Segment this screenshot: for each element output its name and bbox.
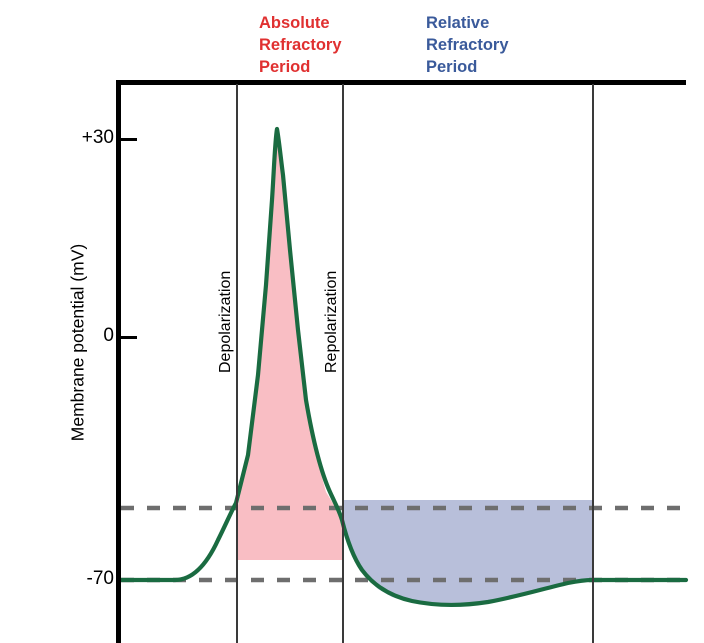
- y-tick-label-30: +30: [54, 127, 114, 149]
- repolarization-label: Repolarization: [323, 271, 341, 373]
- divider-line-repolarization-end: [342, 84, 344, 643]
- y-tick-mark-30: [121, 138, 137, 141]
- plot-canvas: [0, 0, 704, 643]
- divider-line-depolarization-onset: [236, 84, 238, 643]
- depolarization-label: Depolarization: [217, 271, 235, 373]
- y-tick-label-70: -70: [54, 568, 114, 590]
- divider-line-relative-period-end: [592, 84, 594, 643]
- y-axis-title: Membrane potential (mV): [68, 203, 89, 483]
- axis-left-border: [116, 80, 121, 643]
- axis-top-border: [116, 80, 686, 85]
- action-potential-figure: Absolute Refractory Period Relative Refr…: [0, 0, 704, 643]
- y-tick-mark-0: [121, 336, 137, 339]
